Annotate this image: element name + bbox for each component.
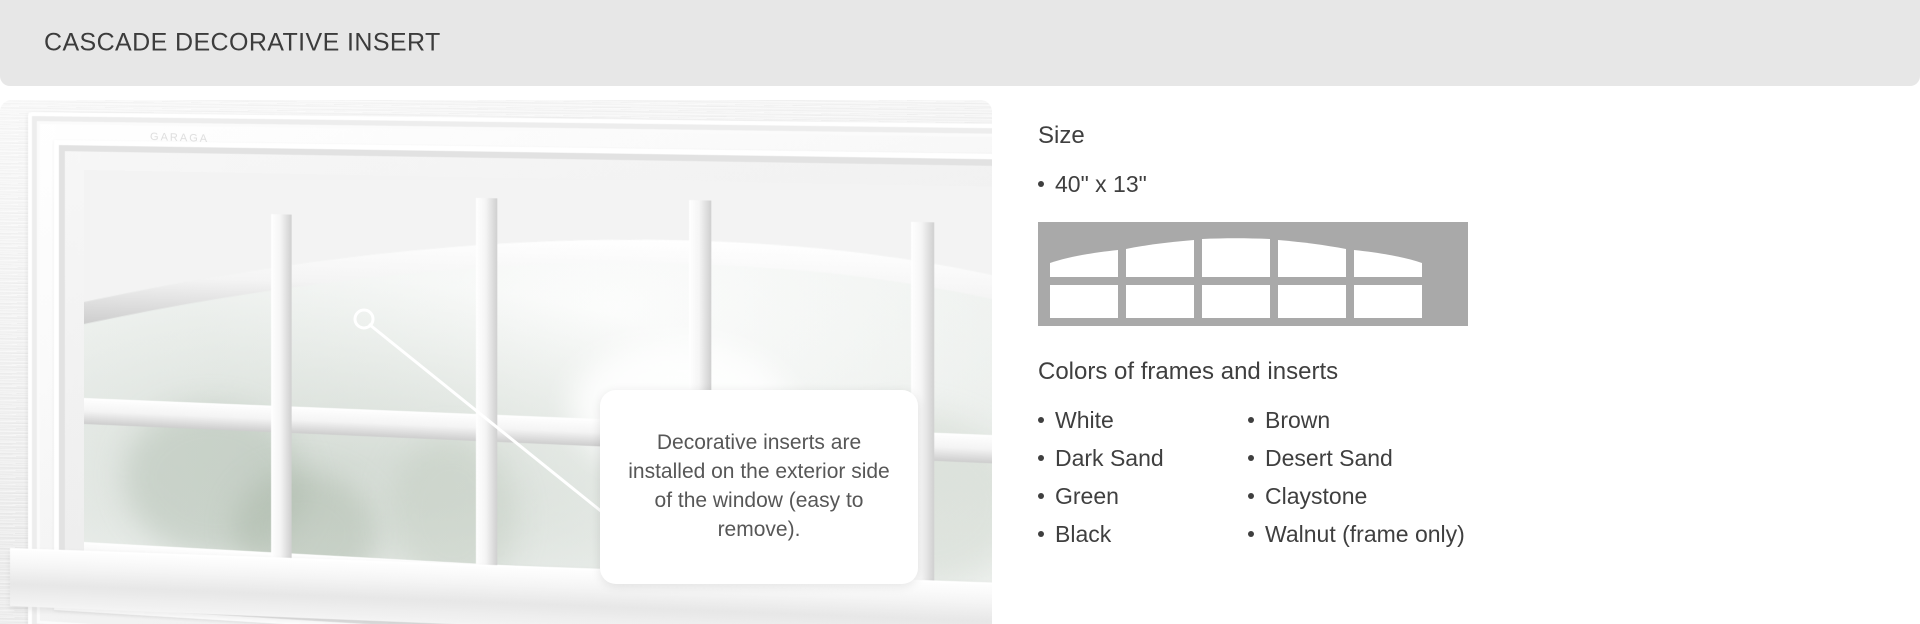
color-label: Brown — [1265, 407, 1330, 433]
cascade-diagram-svg — [1038, 222, 1468, 326]
bullet-icon — [1248, 417, 1254, 423]
color-item: Brown — [1248, 409, 1668, 432]
color-label: Dark Sand — [1055, 445, 1164, 471]
color-item: Black — [1038, 523, 1248, 546]
color-item: Walnut (frame only) — [1248, 523, 1668, 546]
window-layout-diagram — [1038, 222, 1468, 326]
bullet-icon — [1038, 531, 1044, 537]
header-bar: CASCADE DECORATIVE INSERT — [0, 0, 1920, 86]
brand-emboss-top: GARAGA — [150, 131, 209, 145]
color-item: White — [1038, 409, 1248, 432]
product-detail-panel: CASCADE DECORATIVE INSERT — [0, 0, 1920, 624]
bullet-icon — [1038, 455, 1044, 461]
callout-tooltip: Decorative inserts are installed on the … — [600, 390, 918, 584]
bullet-icon — [1248, 455, 1254, 461]
bullet-icon — [1038, 493, 1044, 499]
specifications-panel: Size 40" x 13" — [1038, 100, 1898, 546]
bullet-icon — [1038, 181, 1044, 187]
colors-column-right: Brown Desert Sand Claystone Walnut (fram… — [1248, 409, 1668, 546]
callout-tooltip-text: Decorative inserts are installed on the … — [622, 429, 896, 545]
page-title: CASCADE DECORATIVE INSERT — [44, 29, 441, 58]
size-value: 40" x 13" — [1055, 171, 1147, 197]
color-label: White — [1055, 407, 1114, 433]
bullet-icon — [1038, 417, 1044, 423]
diagram-bottom-row — [1050, 285, 1422, 318]
color-item: Claystone — [1248, 485, 1668, 508]
color-label: Claystone — [1265, 483, 1367, 509]
color-label: Walnut (frame only) — [1265, 521, 1465, 547]
colors-columns: White Dark Sand Green Black Brown Desert… — [1038, 409, 1898, 546]
color-item: Desert Sand — [1248, 447, 1668, 470]
size-heading: Size — [1038, 122, 1898, 151]
bullet-icon — [1248, 493, 1254, 499]
size-item: 40" x 13" — [1038, 173, 1898, 196]
color-item: Dark Sand — [1038, 447, 1248, 470]
color-label: Green — [1055, 483, 1119, 509]
size-list: 40" x 13" — [1038, 173, 1898, 196]
color-label: Desert Sand — [1265, 445, 1393, 471]
colors-heading: Colors of frames and inserts — [1038, 358, 1898, 387]
colors-column-left: White Dark Sand Green Black — [1038, 409, 1248, 546]
color-item: Green — [1038, 485, 1248, 508]
bullet-icon — [1248, 531, 1254, 537]
color-label: Black — [1055, 521, 1111, 547]
